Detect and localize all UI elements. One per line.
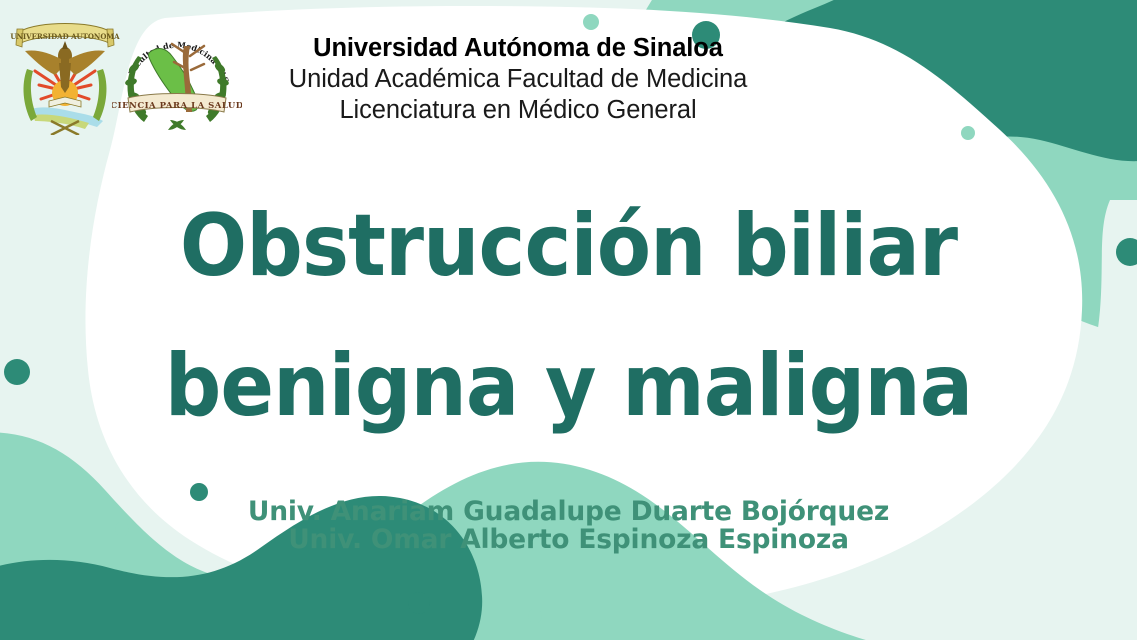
authors-list: Univ. Anariam Guadalupe Duarte Bojórquez… (0, 498, 1137, 553)
svg-text:UNIVERSIDAD AUTONOMA: UNIVERSIDAD AUTONOMA (10, 32, 120, 41)
svg-text:CIENCIA PARA LA SALUD: CIENCIA PARA LA SALUD (112, 101, 242, 111)
program-name: Licenciatura en Médico General (238, 95, 798, 126)
slide-title: Obstrucción biliar benigna y maligna (0, 176, 1137, 456)
author-name-2: Univ. Omar Alberto Espinoza Espinoza (0, 526, 1137, 554)
presentation-slide: UNIVERSIDAD AUTONOMA (0, 0, 1137, 640)
author-name-1: Univ. Anariam Guadalupe Duarte Bojórquez (0, 498, 1137, 526)
medicina-seal-logo: Facultad de Medicina UAS CIENCIA PARA (112, 12, 242, 136)
institution-header: Universidad Autónoma de Sinaloa Unidad A… (238, 33, 798, 126)
dot-mint-top (583, 14, 599, 30)
faculty-name: Unidad Académica Facultad de Medicina (238, 64, 798, 95)
dot-mint-bottom (528, 609, 542, 623)
title-line-1: Obstrucción biliar (45, 176, 1091, 316)
university-name: Universidad Autónoma de Sinaloa (238, 33, 798, 64)
dot-mint-right-upper (961, 126, 975, 140)
dot-dark-bottom (408, 592, 430, 614)
uas-crest-logo: UNIVERSIDAD AUTONOMA (9, 9, 121, 135)
title-line-2: benigna y maligna (45, 316, 1091, 456)
